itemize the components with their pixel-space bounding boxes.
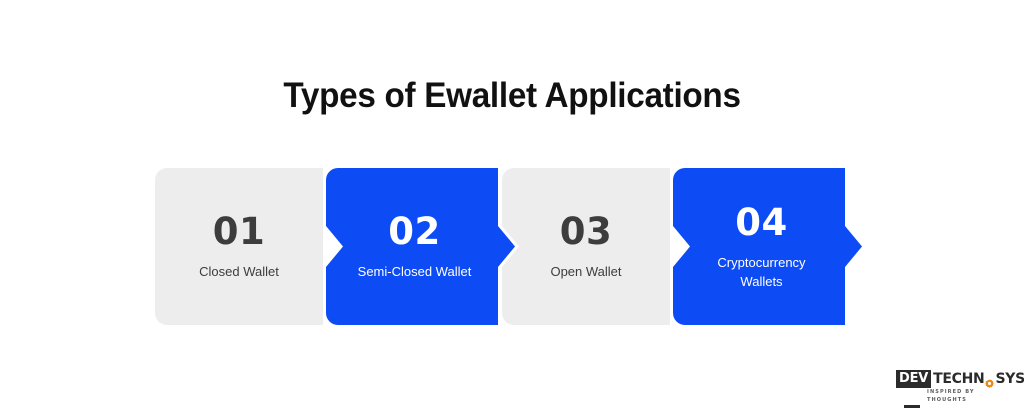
step-card-01[interactable]: 01 Closed Wallet	[155, 168, 323, 325]
infographic-canvas: Types of Ewallet Applications 01 Closed …	[0, 0, 1024, 409]
step-shape-04	[673, 168, 875, 325]
brand-wordmark-part1: TECHN	[933, 370, 984, 388]
step-card-04[interactable]: 04 Cryptocurrency Wallets	[673, 168, 875, 325]
brand-tagline: INSPIRED BY THOUGHTS	[896, 388, 1006, 404]
brand-badge-dev: DEV	[896, 370, 931, 388]
step-card-03[interactable]: 03 Open Wallet	[502, 168, 670, 325]
monitor-stand-icon	[904, 405, 920, 408]
brand-wordmark: TECHN SYS	[931, 370, 1024, 388]
step-shape-02	[326, 168, 523, 325]
step-card-02[interactable]: 02 Semi-Closed Wallet	[326, 168, 523, 325]
brand-wordmark-part2: SYS	[995, 370, 1024, 388]
step-shape-03	[502, 168, 670, 325]
brand-logo: DEV TECHN SYS INSPIRED BY THOUGHTS	[896, 370, 1006, 396]
brand-logo-row: DEV TECHN SYS	[896, 370, 1006, 388]
gear-icon	[985, 375, 994, 384]
step-shape-01	[155, 168, 323, 325]
page-title: Types of Ewallet Applications	[26, 74, 999, 118]
steps-row: 01 Closed Wallet 02 Semi-Closed Wallet 0…	[155, 168, 875, 328]
